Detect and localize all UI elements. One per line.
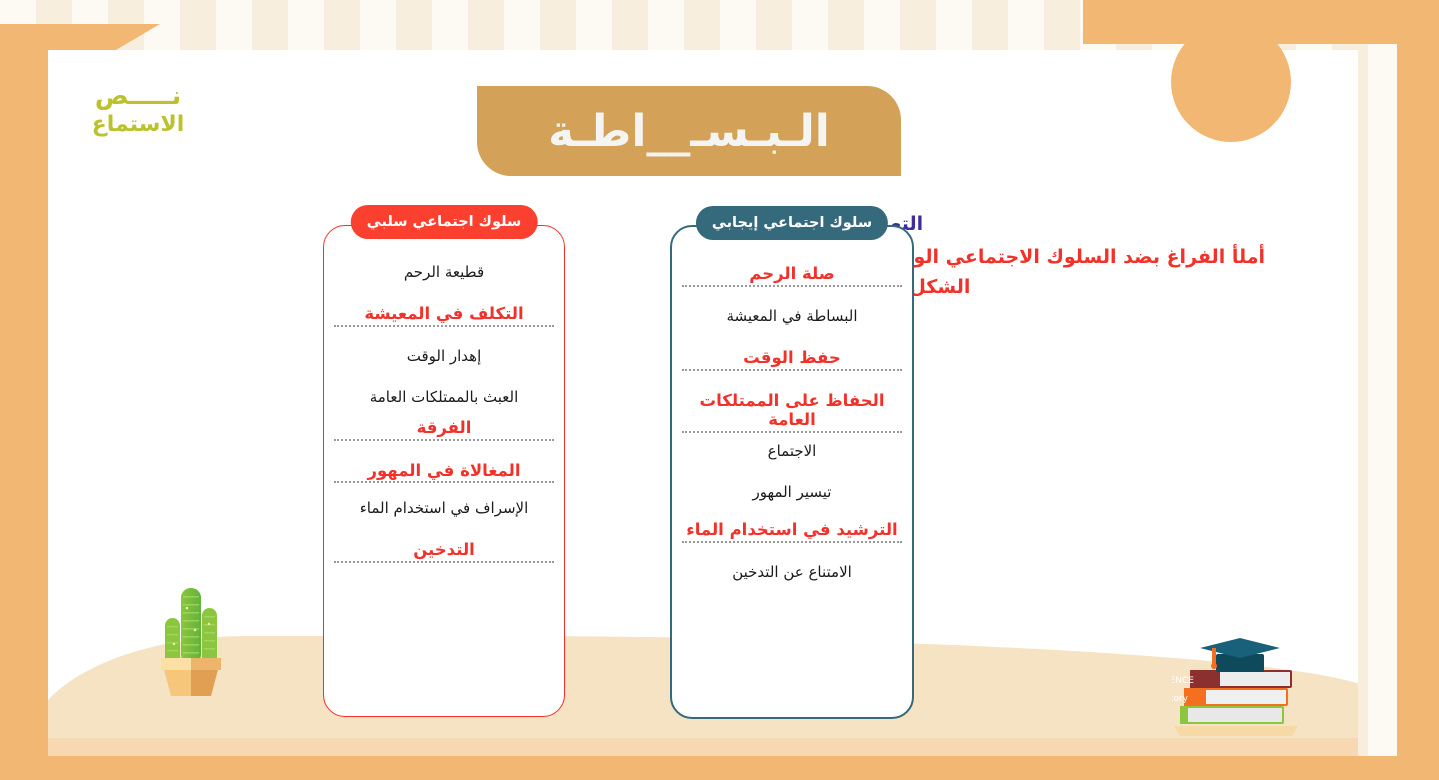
column-negative-behavior: سلوك اجتماعي سلبي قطيعة الرحمالتكلف في ا… (323, 225, 565, 717)
column-positive-items: صلة الرحمالبساطة في المعيشةحفظ الوقتالحف… (672, 261, 912, 703)
blank-answer-text[interactable]: المغالاة في المهور (334, 458, 554, 484)
column-header-positive-label: سلوك اجتماعي إيجابي (712, 215, 872, 231)
behavior-item-text: إهدار الوقت (334, 344, 554, 368)
blank-answer-text[interactable]: الحفاظ على الممتلكات العامة (682, 388, 902, 434)
column-header-positive: سلوك اجتماعي إيجابي (696, 206, 888, 240)
column-positive-behavior: سلوك اجتماعي إيجابي صلة الرحمالبساطة في … (670, 225, 914, 719)
books-with-graduation-cap-icon: history SCIENCE (1172, 630, 1300, 738)
frame-band-bottom (0, 756, 1439, 780)
behavior-item-text: العبث بالممتلكات العامة (334, 385, 554, 409)
behavior-item-text: تيسير المهور (682, 480, 902, 504)
listening-text-kicker: نـــــص الاستماع (68, 80, 208, 139)
blank-answer-text[interactable]: التدخين (334, 537, 554, 563)
column-header-negative-label: سلوك اجتماعي سلبي (367, 214, 522, 230)
book-label-history: history (1172, 694, 1189, 704)
blank-answer-text[interactable]: حفظ الوقت (682, 345, 902, 371)
kicker-line-1: نـــــص (68, 80, 208, 111)
kicker-line-2: الاستماع (68, 111, 208, 139)
blank-answer-text[interactable]: الترشيد في استخدام الماء (682, 517, 902, 543)
behavior-item-text: البساطة في المعيشة (682, 304, 902, 328)
frame-semicircle-bulge (1171, 22, 1291, 142)
blank-answer-text[interactable]: الفرقة (334, 415, 554, 441)
behavior-item-text: قطيعة الرحم (334, 260, 554, 284)
frame-band-left (0, 24, 48, 780)
column-negative-items: قطيعة الرحمالتكلف في المعيشةإهدار الوقتا… (324, 260, 564, 702)
slide-title-pill: الـبـسـ__اطـة (477, 86, 901, 176)
behavior-item-text: الاجتماع (682, 439, 902, 463)
blank-answer-text[interactable]: صلة الرحم (682, 261, 902, 287)
slide-content-card: نـــــص الاستماع الـبـسـ__اطـة التهيئة :… (48, 50, 1358, 756)
blank-answer-text[interactable]: التكلف في المعيشة (334, 301, 554, 327)
book-label-science: SCIENCE (1172, 676, 1194, 686)
ground-shadow-strip (48, 738, 1358, 756)
column-header-negative: سلوك اجتماعي سلبي (351, 205, 538, 239)
slide-canvas: نـــــص الاستماع الـبـسـ__اطـة التهيئة :… (0, 0, 1439, 780)
behavior-item-text: الإسراف في استخدام الماء (334, 496, 554, 520)
page-title: الـبـسـ__اطـة (548, 106, 830, 157)
cactus-plant-icon (143, 578, 239, 698)
frame-band-right (1397, 0, 1439, 780)
behavior-item-text: الامتناع عن التدخين (682, 560, 902, 584)
